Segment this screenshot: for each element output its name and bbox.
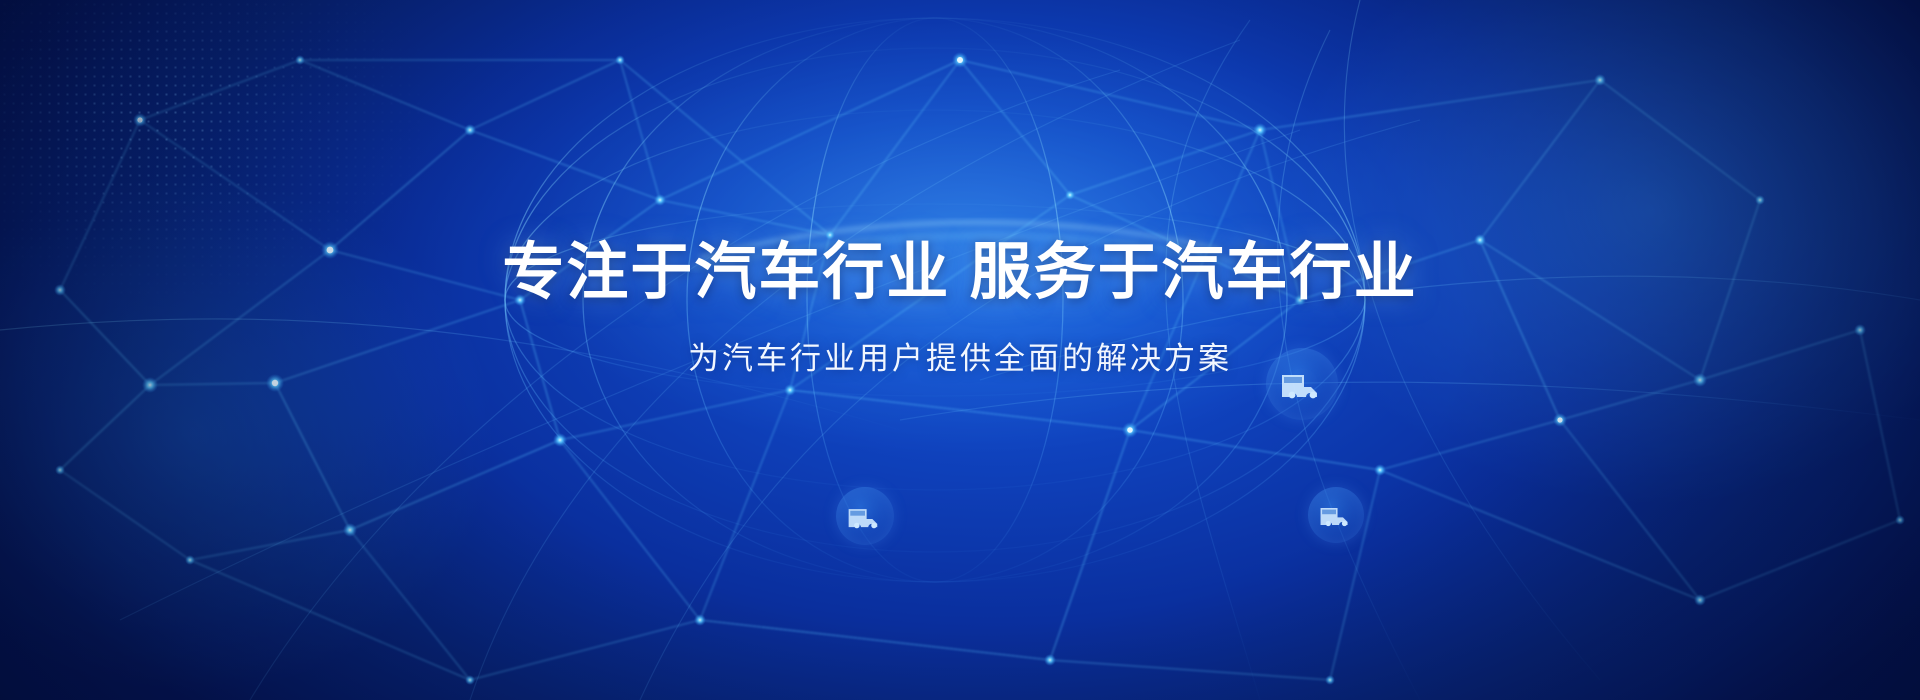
hero-banner: 专注于汽车行业 服务于汽车行业 为汽车行业用户提供全面的解决方案 bbox=[0, 0, 1920, 700]
hero-content: 专注于汽车行业 服务于汽车行业 为汽车行业用户提供全面的解决方案 bbox=[0, 0, 1920, 700]
hero-subtitle: 为汽车行业用户提供全面的解决方案 bbox=[688, 333, 1232, 378]
hero-title: 专注于汽车行业 服务于汽车行业 bbox=[502, 238, 1417, 307]
